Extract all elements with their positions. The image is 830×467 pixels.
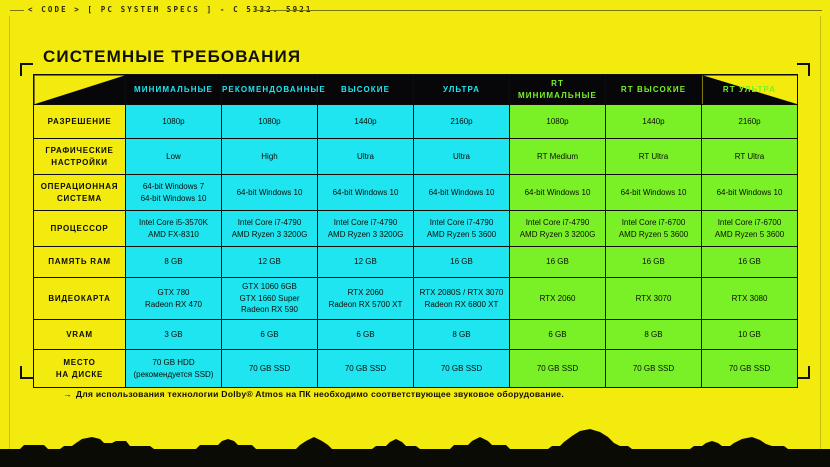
table-cell: 64-bit Windows 10 [414,175,510,211]
cell-line: 70 GB SSD [510,363,605,375]
cell-line: 8 GB [606,329,701,341]
cell-line: Intel Core i7-4790 [414,217,509,229]
cell-line: 12 GB [222,256,317,268]
table-cell: 16 GB [702,247,798,278]
table-cell: GTX 1060 6GBGTX 1660 SuperRadeon RX 590 [222,278,318,320]
cell-line: 1440p [606,116,701,128]
row-label: ГРАФИЧЕСКИЕНАСТРОЙКИ [34,139,126,175]
cell-line: 1440p [318,116,413,128]
cell-line: 64-bit Windows 10 [414,187,509,199]
table-cell: 16 GB [414,247,510,278]
table-cell: RTX 2080S / RTX 3070Radeon RX 6800 XT [414,278,510,320]
code-dash-left [10,10,24,11]
cell-line: GTX 1060 6GB [222,281,317,293]
table-cell: 70 GB SSD [222,350,318,388]
cell-line: 16 GB [702,256,797,268]
table-cell: 6 GB [222,320,318,350]
cell-line: Radeon RX 6800 XT [414,299,509,311]
cell-line: Intel Core i7-6700 [606,217,701,229]
column-header-rt-ultra: RT УЛЬТРА [702,75,798,105]
table-cell: 70 GB HDD(рекомендуется SSD) [126,350,222,388]
column-header-minimum: МИНИМАЛЬНЫЕ [126,75,222,105]
cell-line: Ultra [414,151,509,163]
cell-line: AMD Ryzen 3 3200G [510,229,605,241]
table-row: ПАМЯТЬ RAM8 GB12 GB12 GB16 GB16 GB16 GB1… [34,247,798,278]
row-label: МЕСТОНА ДИСКЕ [34,350,126,388]
cell-line: 70 GB SSD [702,363,797,375]
table-cell: Intel Core i7-4790AMD Ryzen 3 3200G [222,211,318,247]
row-label-line: ОПЕРАЦИОННАЯ [34,181,125,193]
row-label: РАЗРЕШЕНИЕ [34,105,126,139]
row-label: ВИДЕОКАРТА [34,278,126,320]
row-label-line: НА ДИСКЕ [34,369,125,381]
cell-line: AMD Ryzen 5 3600 [414,229,509,241]
cell-line: 16 GB [510,256,605,268]
corner-bracket-bottom-left [20,366,33,379]
arrow-icon: → [63,389,72,399]
cell-line: 70 GB SSD [222,363,317,375]
cell-line: Intel Core i5-3570K [126,217,221,229]
table-cell: Ultra [414,139,510,175]
code-dash-right [255,10,822,11]
table-cell: High [222,139,318,175]
table-cell: Intel Core i7-6700AMD Ryzen 5 3600 [606,211,702,247]
table-cell: 64-bit Windows 10 [702,175,798,211]
table-cell: RTX 2060Radeon RX 5700 XT [318,278,414,320]
table-row: ПРОЦЕССОРIntel Core i5-3570KAMD FX-8310I… [34,211,798,247]
cell-line: 12 GB [318,256,413,268]
cell-line: RTX 2060 [510,293,605,305]
cell-line: Low [126,151,221,163]
table-cell: 64-bit Windows 10 [510,175,606,211]
cell-line: 64-bit Windows 7 [126,181,221,193]
row-label: VRAM [34,320,126,350]
table-cell: Intel Core i5-3570KAMD FX-8310 [126,211,222,247]
cell-line: RT Ultra [606,151,701,163]
table-row: РАЗРЕШЕНИЕ1080p1080p1440p2160p1080p1440p… [34,105,798,139]
cell-line: 64-bit Windows 10 [510,187,605,199]
table-cell: RT Ultra [606,139,702,175]
cell-line: AMD Ryzen 5 3600 [606,229,701,241]
table-cell: RTX 3080 [702,278,798,320]
table-cell: 1080p [126,105,222,139]
table-cell: 64-bit Windows 764-bit Windows 10 [126,175,222,211]
table-row: VRAM3 GB6 GB6 GB8 GB6 GB8 GB10 GB [34,320,798,350]
row-label-line: СИСТЕМА [34,193,125,205]
cell-line: Intel Core i7-4790 [318,217,413,229]
cell-line: RTX 2080S / RTX 3070 [414,287,509,299]
column-header-rt-high: RT ВЫСОКИЕ [606,75,702,105]
table-cell: 1080p [222,105,318,139]
cell-line: 2160p [414,116,509,128]
table-cell: 16 GB [510,247,606,278]
table-cell: 12 GB [318,247,414,278]
specs-table-wrapper: МИНИМАЛЬНЫЕ РЕКОМЕНДОВАННЫЕ ВЫСОКИЕ УЛЬТ… [33,74,797,388]
table-cell: 1440p [318,105,414,139]
cell-line: GTX 1660 Super [222,293,317,305]
row-label: ПРОЦЕССОР [34,211,126,247]
cell-line: 6 GB [318,329,413,341]
table-cell: 8 GB [414,320,510,350]
row-label-line: ПАМЯТЬ RAM [34,256,125,268]
row-label-line: РАЗРЕШЕНИЕ [34,116,125,128]
cell-line: 64-bit Windows 10 [222,187,317,199]
table-cell: 70 GB SSD [606,350,702,388]
system-requirements-screen: < CODE > [ PC SYSTEM SPECS ] - C 5332. 5… [0,0,830,467]
table-cell: 64-bit Windows 10 [606,175,702,211]
corner-bracket-top-right [797,63,810,76]
table-cell: RTX 2060 [510,278,606,320]
table-cell: 1440p [606,105,702,139]
table-row: ВИДЕОКАРТАGTX 780Radeon RX 470GTX 1060 6… [34,278,798,320]
column-header-recommended: РЕКОМЕНДОВАННЫЕ [222,75,318,105]
cell-line: RT Medium [510,151,605,163]
table-row: МЕСТОНА ДИСКЕ70 GB HDD(рекомендуется SSD… [34,350,798,388]
row-label-line: ПРОЦЕССОР [34,223,125,235]
header-row: МИНИМАЛЬНЫЕ РЕКОМЕНДОВАННЫЕ ВЫСОКИЕ УЛЬТ… [34,75,798,105]
bottom-skyline-decoration: [ ] ± ■ ■ ■ ± ■ ■ ■ | [ ] ± [0,415,830,467]
cell-line: AMD FX-8310 [126,229,221,241]
cell-line: 8 GB [126,256,221,268]
frame-line-left [9,16,10,456]
table-cell: 2160p [702,105,798,139]
cell-line: 1080p [510,116,605,128]
row-label-line: VRAM [34,329,125,341]
table-cell: 70 GB SSD [702,350,798,388]
cell-line: 2160p [702,116,797,128]
table-cell: 3 GB [126,320,222,350]
column-header-ultra: УЛЬТРА [414,75,510,105]
row-label: ПАМЯТЬ RAM [34,247,126,278]
cell-line: 16 GB [414,256,509,268]
cell-line: 64-bit Windows 10 [702,187,797,199]
table-cell: Low [126,139,222,175]
cell-line: 70 GB SSD [606,363,701,375]
row-label: ОПЕРАЦИОННАЯСИСТЕМА [34,175,126,211]
table-row: ГРАФИЧЕСКИЕНАСТРОЙКИLowHighUltraUltraRT … [34,139,798,175]
cell-line: Intel Core i7-4790 [222,217,317,229]
cell-line: RTX 3070 [606,293,701,305]
specs-table: МИНИМАЛЬНЫЕ РЕКОМЕНДОВАННЫЕ ВЫСОКИЕ УЛЬТ… [33,74,798,388]
table-cell: 8 GB [126,247,222,278]
cell-line: 64-bit Windows 10 [606,187,701,199]
specs-table-head: МИНИМАЛЬНЫЕ РЕКОМЕНДОВАННЫЕ ВЫСОКИЕ УЛЬТ… [34,75,798,105]
top-code-bar: < CODE > [ PC SYSTEM SPECS ] - C 5332. 5… [0,3,830,17]
cell-line: 64-bit Windows 10 [126,193,221,205]
cell-line: RT Ultra [702,151,797,163]
table-row: ОПЕРАЦИОННАЯСИСТЕМА64-bit Windows 764-bi… [34,175,798,211]
header-corner-cell [34,75,126,105]
corner-bracket-bottom-right [797,366,810,379]
table-cell: 70 GB SSD [414,350,510,388]
table-cell: 6 GB [510,320,606,350]
cell-line: 8 GB [414,329,509,341]
row-label-line: ГРАФИЧЕСКИЕ [34,145,125,157]
table-cell: 6 GB [318,320,414,350]
table-cell: 64-bit Windows 10 [222,175,318,211]
table-cell: Ultra [318,139,414,175]
row-label-line: ВИДЕОКАРТА [34,293,125,305]
cell-line: 70 GB HDD [126,357,221,369]
table-cell: 16 GB [606,247,702,278]
cell-line: Ultra [318,151,413,163]
cell-line: Intel Core i7-4790 [510,217,605,229]
table-cell: 1080p [510,105,606,139]
table-cell: GTX 780Radeon RX 470 [126,278,222,320]
cell-line: 3 GB [126,329,221,341]
table-cell: Intel Core i7-4790AMD Ryzen 3 3200G [510,211,606,247]
table-cell: RT Ultra [702,139,798,175]
table-cell: RTX 3070 [606,278,702,320]
cell-line: Radeon RX 590 [222,304,317,316]
table-cell: RT Medium [510,139,606,175]
table-cell: 64-bit Windows 10 [318,175,414,211]
table-cell: Intel Core i7-4790AMD Ryzen 5 3600 [414,211,510,247]
table-cell: Intel Core i7-4790AMD Ryzen 3 3200G [318,211,414,247]
footer-note: →Для использования технологии Dolby® Atm… [63,389,564,399]
cell-line: RTX 3080 [702,293,797,305]
footer-note-text: Для использования технологии Dolby® Atmo… [76,389,564,399]
skyline-shape [0,415,830,467]
cell-line: 70 GB SSD [318,363,413,375]
cell-line: 70 GB SSD [414,363,509,375]
cell-line: AMD Ryzen 3 3200G [318,229,413,241]
table-cell: Intel Core i7-6700AMD Ryzen 5 3600 [702,211,798,247]
cell-line: AMD Ryzen 3 3200G [222,229,317,241]
cell-line: 6 GB [510,329,605,341]
row-label-line: МЕСТО [34,357,125,369]
cell-line: Radeon RX 470 [126,299,221,311]
table-cell: 8 GB [606,320,702,350]
cell-line: 10 GB [702,329,797,341]
cell-line: AMD Ryzen 5 3600 [702,229,797,241]
table-cell: 70 GB SSD [510,350,606,388]
cell-line: High [222,151,317,163]
table-cell: 70 GB SSD [318,350,414,388]
cell-line: 1080p [222,116,317,128]
cell-line: (рекомендуется SSD) [126,369,221,381]
column-header-high: ВЫСОКИЕ [318,75,414,105]
row-label-line: НАСТРОЙКИ [34,157,125,169]
frame-line-right [820,16,821,456]
cell-line: 6 GB [222,329,317,341]
table-cell: 10 GB [702,320,798,350]
cell-line: 1080p [126,116,221,128]
cell-line: GTX 780 [126,287,221,299]
cell-line: 16 GB [606,256,701,268]
table-cell: 12 GB [222,247,318,278]
cell-line: 64-bit Windows 10 [318,187,413,199]
page-title: СИСТЕМНЫЕ ТРЕБОВАНИЯ [43,47,301,67]
table-cell: 2160p [414,105,510,139]
specs-table-body: РАЗРЕШЕНИЕ1080p1080p1440p2160p1080p1440p… [34,105,798,388]
cell-line: RTX 2060 [318,287,413,299]
cell-line: Intel Core i7-6700 [702,217,797,229]
column-header-rt-minimum: RT МИНИМАЛЬНЫЕ [510,75,606,105]
corner-bracket-top-left [20,63,33,76]
cell-line: Radeon RX 5700 XT [318,299,413,311]
